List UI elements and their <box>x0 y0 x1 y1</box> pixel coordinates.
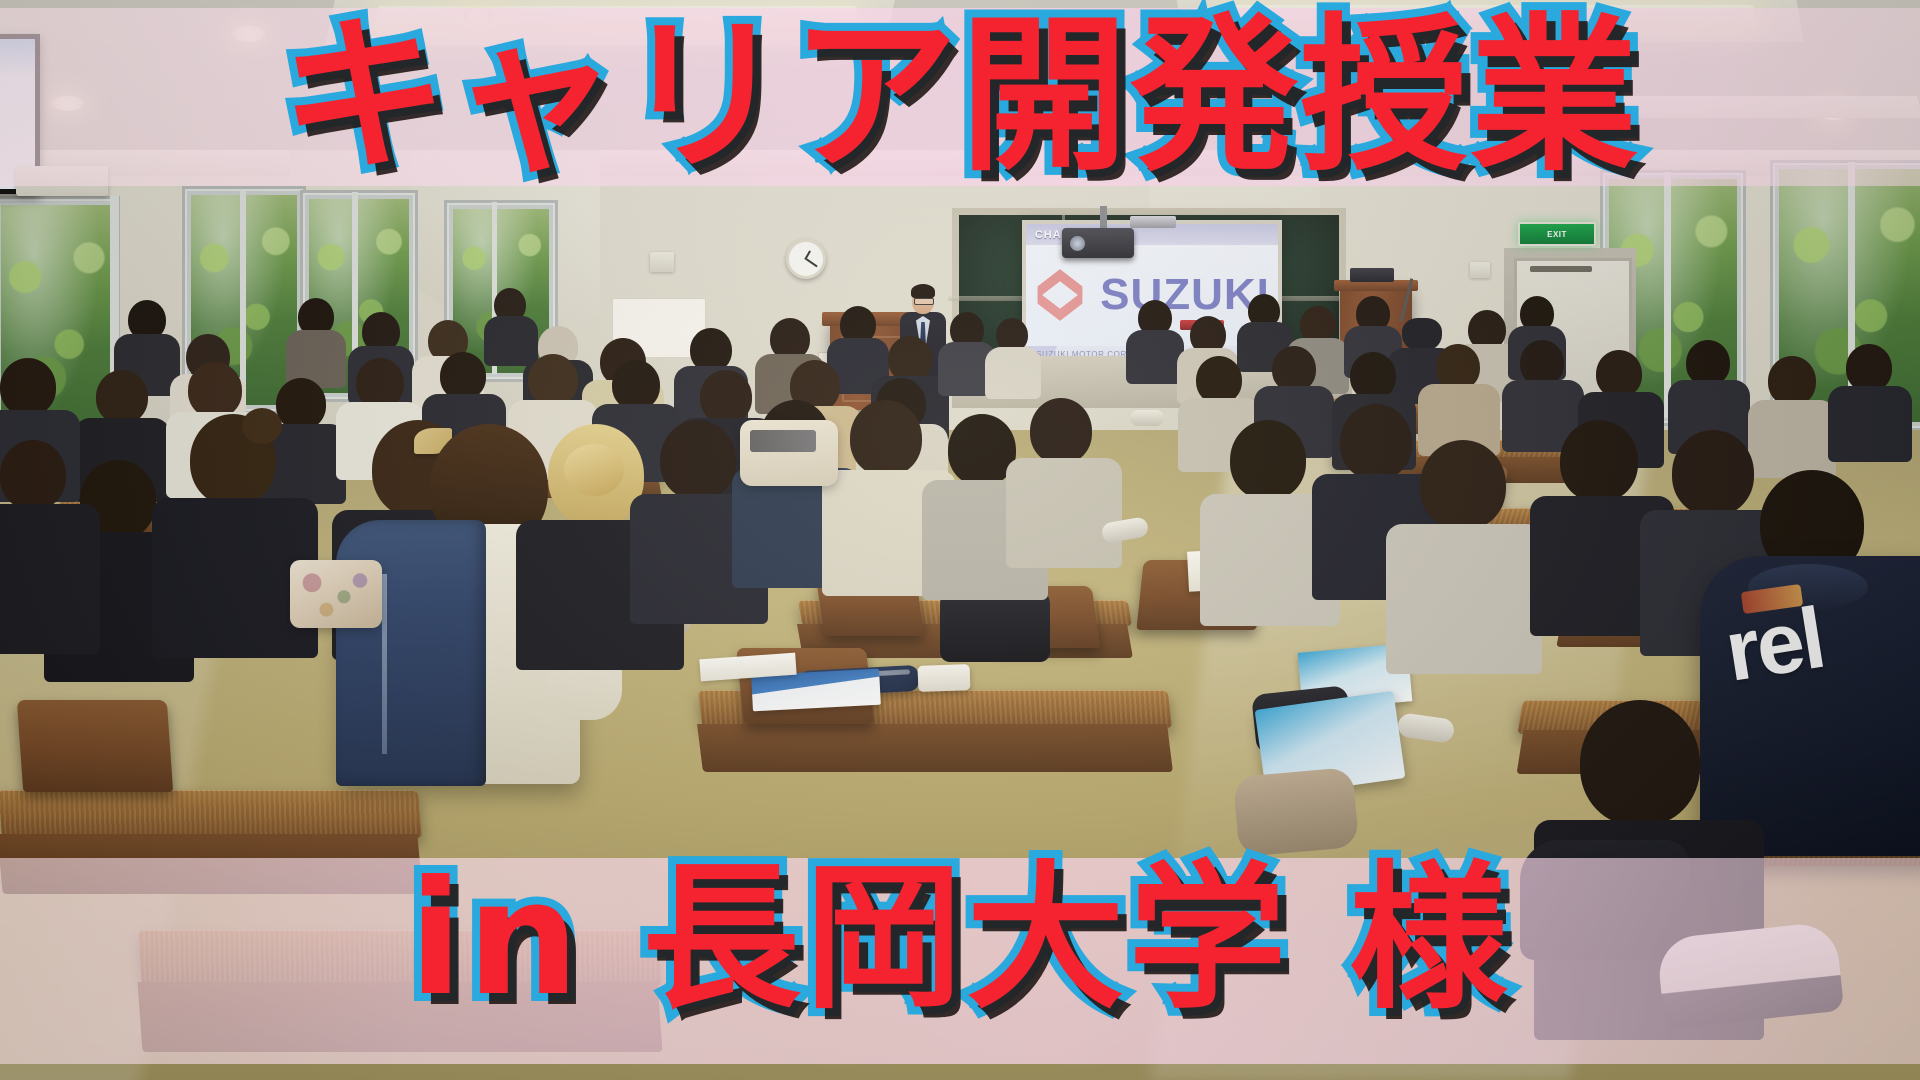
desk-foreground-left <box>0 790 422 838</box>
tote-bag-foreground <box>1233 767 1360 857</box>
suzuki-s-logo-icon <box>1034 264 1086 326</box>
podium-equipment <box>1350 268 1394 282</box>
screenshot-canvas: CHAPTER SUZUKI SUZUKI MOTOR CORPORATION … <box>0 0 1920 1080</box>
door-closer <box>1530 266 1592 272</box>
wall-speaker-box <box>650 252 674 272</box>
wall-box-right <box>1470 262 1490 278</box>
overall-seam <box>382 574 387 754</box>
pen-case[interactable] <box>918 664 971 692</box>
window-mullion-2 <box>240 190 246 406</box>
desk-foreground-1-front <box>697 724 1173 772</box>
tote-bag-print <box>750 430 816 452</box>
floral-pouch-pattern <box>296 566 376 622</box>
slide-brand-text: SUZUKI <box>1100 270 1270 320</box>
hoodie-text: rel <box>1719 589 1830 702</box>
presenter-hair <box>911 284 935 299</box>
top-title-text: キャリア開発授業 <box>0 12 1920 180</box>
exit-sign: EXIT <box>1518 222 1596 246</box>
bottom-title-text: in 長岡大学 様 <box>0 860 1920 1018</box>
top-title-banner: キャリア開発授業 <box>0 8 1920 186</box>
chair-foreground-left <box>17 700 173 792</box>
presenter-glasses <box>914 298 934 305</box>
window-mullion-5 <box>1664 172 1671 418</box>
shoe-aisle-3 <box>1130 410 1164 426</box>
projector-lens <box>1070 236 1085 251</box>
wall-clock <box>786 239 826 279</box>
projector-bracket <box>1130 216 1176 228</box>
bottom-title-banner: in 長岡大学 様 <box>0 858 1920 1064</box>
